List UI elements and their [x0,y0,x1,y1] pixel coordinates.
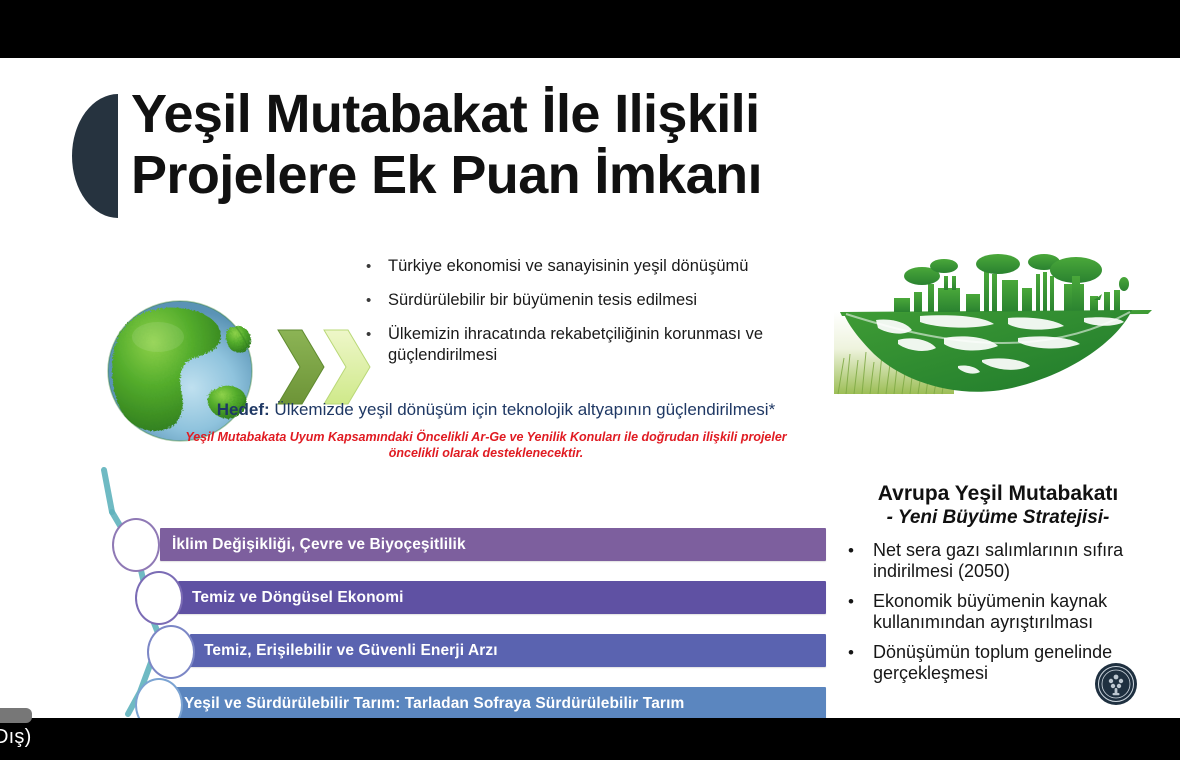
topic-node-2 [135,571,183,625]
double-chevron-arrow-icon [276,326,372,408]
topic-bar-2-label: Temiz ve Döngüsel Ekonomi [178,589,404,607]
eu-panel-title: Avrupa Yeşil Mutabakatı [848,481,1148,506]
objectives-bullet-list: • Türkiye ekonomisi ve sanayisinin yeşil… [366,256,786,379]
topic-node-3 [147,625,195,679]
topic-bar-4-label: Yeşil ve Sürdürülebilir Tarım: Tarladan … [170,695,684,713]
list-item-label: Ülkemizin ihracatında rekabetçiliğinin k… [388,324,786,366]
bullet-glyph: • [848,540,873,561]
title-accent-halfcircle [72,94,118,218]
letterbox-top [0,0,1180,58]
list-item: • Net sera gazı salımlarının sıfıra indi… [848,540,1148,582]
list-item: • Türkiye ekonomisi ve sanayisinin yeşil… [366,256,786,277]
bullet-glyph: • [848,642,873,663]
bullet-glyph: • [366,290,388,311]
cut-off-caption: Dış) [0,726,31,749]
list-item-label: Türkiye ekonomisi ve sanayisinin yeşil d… [388,256,786,277]
topic-bar-1[interactable]: İklim Değişikliği, Çevre ve Biyoçeşitlil… [160,528,826,561]
topic-bar-4[interactable]: Yeşil ve Sürdürülebilir Tarım: Tarladan … [170,687,826,718]
goal-statement: Hedef: Ülkemizde yeşil dönüşüm için tekn… [176,399,816,421]
bullet-glyph: • [848,591,873,612]
green-industry-world-leaf-illustration [832,254,1162,404]
list-item-label: Ekonomik büyümenin kaynak kullanımından … [873,591,1148,633]
topic-bar-1-label: İklim Değişikliği, Çevre ve Biyoçeşitlil… [160,536,466,554]
list-item: • Ülkemizin ihracatında rekabetçiliğinin… [366,324,786,366]
bullet-glyph: • [366,324,388,345]
list-item: • Sürdürülebilir bir büyümenin tesis edi… [366,290,786,311]
topic-bar-2[interactable]: Temiz ve Döngüsel Ekonomi [178,581,826,614]
topic-bar-3[interactable]: Temiz, Erişilebilir ve Güvenli Enerji Ar… [190,634,826,667]
slide-canvas: Yeşil Mutabakat İle Ilişkili Projelere E… [0,58,1180,718]
topic-node-1 [112,518,160,572]
list-item-label: Sürdürülebilir bir büyümenin tesis edilm… [388,290,786,311]
letterbox-bottom [0,718,1180,760]
green-earth-globe-image [92,297,272,445]
bullet-glyph: • [366,256,388,277]
institution-emblem-logo [1094,662,1138,706]
page-title: Yeşil Mutabakat İle Ilişkili Projelere E… [131,84,991,206]
window-tab-handle[interactable] [0,708,32,723]
list-item: • Ekonomik büyümenin kaynak kullanımında… [848,591,1148,633]
eu-panel-subtitle: - Yeni Büyüme Stratejisi- [848,506,1148,530]
topic-bar-3-label: Temiz, Erişilebilir ve Güvenli Enerji Ar… [190,642,498,660]
list-item-label: Net sera gazı salımlarının sıfıra indiri… [873,540,1148,582]
goal-text: Ülkemizde yeşil dönüşüm için teknolojik … [270,400,776,419]
goal-label: Hedef: [217,400,270,419]
